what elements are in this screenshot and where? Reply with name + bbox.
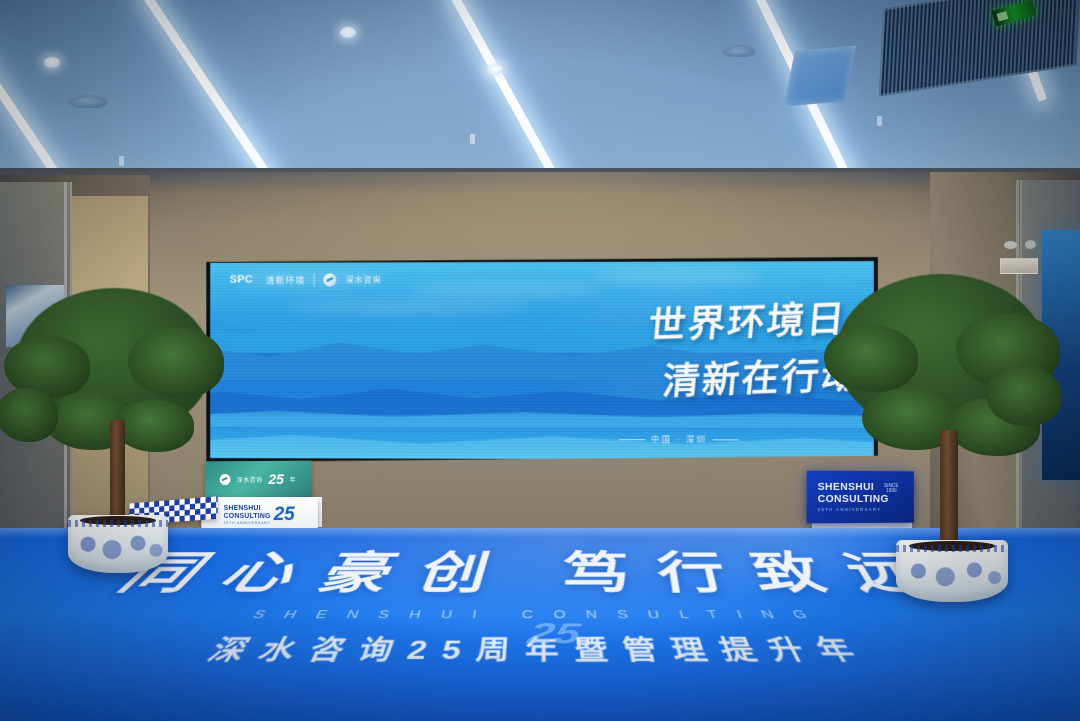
floor-english-left: SHENSHUI	[250, 608, 497, 621]
logo-divider	[314, 273, 315, 286]
floor-anniversary-mark: 25	[524, 617, 583, 650]
podium-left-base-number: 25	[274, 504, 295, 526]
door-lock-icon[interactable]	[1025, 240, 1036, 249]
podium-left: 深水咨询 25 年 SHENSHUI CONSULTING 25TH ANNIV…	[205, 461, 312, 534]
spc-logo-cn: 清新环境	[266, 273, 305, 286]
leaf-clump	[128, 328, 224, 398]
smoke-detector-icon	[68, 95, 108, 109]
sprinkler-head-icon	[119, 156, 124, 166]
subtitle-rule-right	[713, 439, 739, 440]
podium-left-top-cn: 深水咨询	[237, 474, 263, 483]
porcelain-planter	[896, 540, 1008, 602]
leaf-clump	[824, 326, 918, 392]
shenshui-logo-cn: 深水咨询	[346, 274, 382, 285]
potted-tree-left	[10, 270, 215, 575]
planter-rim-pattern	[896, 545, 1008, 552]
podium-left-base-line1: SHENSHUI	[224, 505, 271, 513]
podium-left-top-panel: 深水咨询 25 年	[205, 461, 312, 497]
sprinkler-head-icon	[877, 116, 882, 126]
recessed-downlight	[487, 64, 503, 75]
subtitle-rule-left	[619, 439, 645, 440]
podium-left-base-sub: 25TH ANNIVERSARY	[224, 521, 271, 525]
door-handle-icon[interactable]	[1004, 241, 1017, 249]
potted-tree-right	[836, 262, 1058, 602]
leaf-clump	[114, 400, 194, 452]
leaf-clump	[986, 366, 1062, 426]
recessed-downlight	[340, 27, 356, 38]
planter-blue-motif	[896, 554, 1008, 592]
sprinkler-head-icon	[470, 134, 475, 144]
led-logo-row: SPC 清新环境 深水咨询	[230, 273, 381, 286]
led-title-block: 世界环境日 清新在行动	[650, 291, 847, 402]
spc-logo-abbr: SPC	[230, 274, 253, 286]
shenshui-logo-icon	[220, 474, 231, 485]
porcelain-planter	[68, 515, 168, 573]
podium-left-top-suffix: 年	[290, 474, 297, 483]
led-subtitle: 中国 · 深圳	[651, 433, 707, 445]
led-video-wall[interactable]: SPC 清新环境 深水咨询 世界环境日 清新在行动 中国 · 深圳	[206, 257, 878, 464]
tree-trunk	[940, 430, 958, 548]
leaf-clump	[0, 388, 58, 442]
recessed-downlight	[44, 57, 60, 68]
planter-rim-pattern	[68, 520, 168, 527]
led-screen-content: SPC 清新环境 深水咨询 世界环境日 清新在行动 中国 · 深圳	[210, 261, 874, 460]
tree-trunk	[110, 420, 125, 525]
shenshui-logo-icon	[324, 273, 337, 286]
podium-left-base-line2: CONSULTING	[224, 513, 271, 521]
led-title-line1: 世界环境日	[647, 288, 850, 349]
podium-left-top-number: 25	[268, 471, 283, 487]
led-subtitle-row: 中国 · 深圳	[619, 433, 739, 445]
lobby-event-photo: SPC 清新环境 深水咨询 世界环境日 清新在行动 中国 · 深圳 深水咨询	[0, 0, 1080, 721]
ceiling-light-panel	[784, 45, 856, 106]
smoke-detector-icon	[722, 45, 756, 58]
planter-blue-motif	[68, 528, 168, 564]
